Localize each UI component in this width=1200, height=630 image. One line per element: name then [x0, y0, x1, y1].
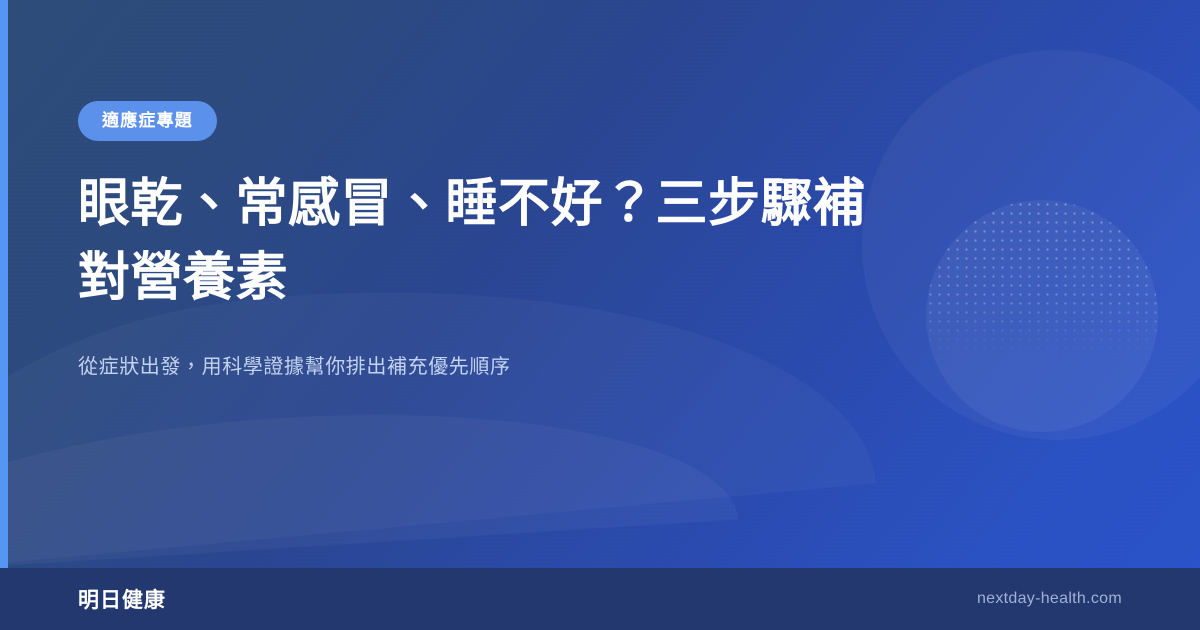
- decorative-wave-lower: [0, 390, 738, 576]
- share-card: 適應症專題 眼乾、常感冒、睡不好？三步驟補對營養素 從症狀出發，用科學證據幫你排…: [0, 0, 1200, 630]
- card-footer: 明日健康 nextday-health.com: [0, 568, 1200, 630]
- left-accent-bar: [0, 0, 8, 568]
- hero-content: 適應症專題 眼乾、常感冒、睡不好？三步驟補對營養素 從症狀出發，用科學證據幫你排…: [78, 0, 958, 383]
- decorative-dot-pattern: [926, 200, 1158, 432]
- page-subtitle: 從症狀出發，用科學證據幫你排出補充優先順序: [78, 351, 958, 383]
- site-url: nextday-health.com: [977, 590, 1122, 608]
- brand-name: 明日健康: [78, 584, 166, 614]
- category-badge: 適應症專題: [78, 101, 217, 141]
- page-title: 眼乾、常感冒、睡不好？三步驟補對營養素: [78, 167, 908, 315]
- decorative-circle-inner: [926, 200, 1158, 432]
